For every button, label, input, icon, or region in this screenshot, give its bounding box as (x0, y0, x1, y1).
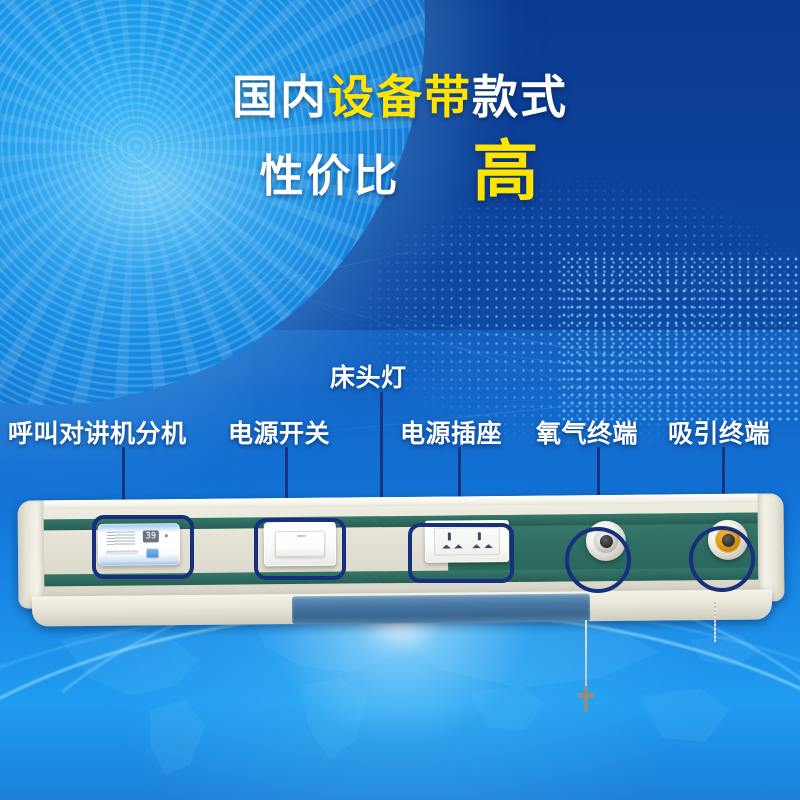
callout-label-oxygen: 氧气终端 (536, 414, 638, 450)
callout-label-intercom: 呼叫对讲机分机 (8, 414, 187, 450)
callout-label-bed-lamp: 床头灯 (330, 358, 407, 394)
highlight-circle-suction (689, 526, 755, 592)
highlight-circle-oxygen (565, 527, 631, 593)
panel-rail-blue-section (292, 594, 590, 625)
callout-label-suction: 吸引终端 (668, 414, 770, 450)
promo-banner: 国内设备带款式 性价比 高 呼叫对讲机分机 电源开关 床头灯 电源插座 氧气终端… (0, 0, 800, 800)
callout-label-power-socket: 电源插座 (400, 414, 502, 450)
highlight-box-power-socket (408, 523, 514, 583)
panel-left-end-cap (17, 500, 44, 608)
callout-label-power-switch: 电源开关 (228, 414, 330, 450)
bed-lamp-pull-cord[interactable] (585, 620, 587, 688)
panel-right-end-cap (757, 493, 784, 601)
callout-layer: 呼叫对讲机分机 电源开关 床头灯 电源插座 氧气终端 吸引终端 (0, 0, 800, 800)
suction-hose-cord (714, 600, 716, 642)
highlight-box-intercom (92, 515, 194, 579)
highlight-box-power-switch (254, 518, 346, 580)
